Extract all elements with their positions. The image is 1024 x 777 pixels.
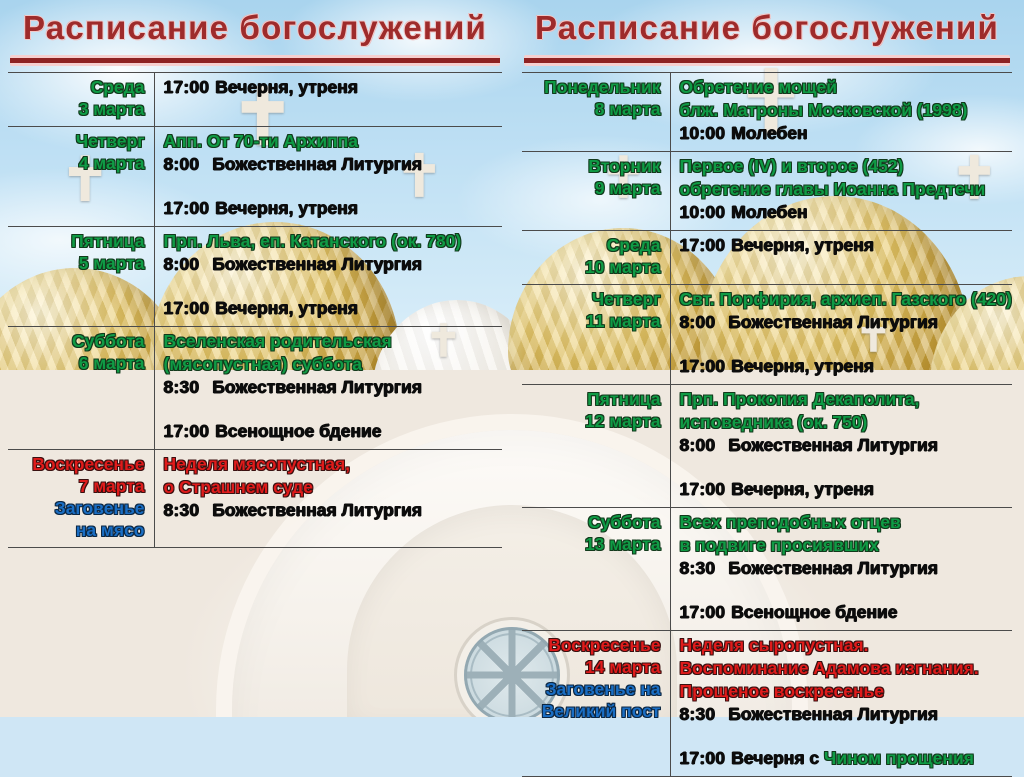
event-text: Прощеное воскресенье (680, 681, 885, 701)
events-cell: Прп. Льва, еп. Катанского (ок. 780)8:00Б… (154, 227, 502, 327)
schedule-table-left: Среда3 марта17:00Вечерня, утреняЧетверг4… (8, 72, 502, 548)
event-text: обретение главы Иоанна Предтечи (680, 179, 986, 199)
event-time: 17:00 (680, 235, 726, 255)
events-cell: Обретение мощейблж. Матроны Московской (… (670, 73, 1012, 152)
day-label: 11 марта (522, 310, 661, 332)
event-line: 17:00Вечерня, утреня (164, 76, 503, 99)
day-label: Суббота (8, 330, 145, 352)
day-cell: Пятница12 марта (522, 385, 670, 508)
day-label: 8 марта (522, 98, 661, 120)
schedule-poster: Расписание богослужений Среда3 марта17:0… (0, 0, 1024, 717)
table-row: Пятница12 мартаПрп. Прокопия Декаполита,… (522, 385, 1012, 508)
event-line: блж. Матроны Московской (1998) (680, 99, 1013, 122)
event-line: 10:00Молебен (680, 122, 1013, 145)
events-cell: 17:00Вечерня, утреня (154, 73, 502, 127)
event-time: 17:00 (164, 421, 210, 441)
event-time: 8:30 (164, 377, 200, 397)
day-label: на мясо (8, 519, 145, 541)
event-line: Неделя сыропустная. (680, 634, 1013, 657)
event-line: 10:00Молебен (680, 201, 1013, 224)
day-label: 5 марта (8, 252, 145, 274)
event-line: обретение главы Иоанна Предтечи (680, 178, 1013, 201)
event-text: Вечерня, утреня (215, 198, 358, 218)
event-line: 17:00Вечерня, утреня (680, 234, 1013, 257)
event-line: 8:30Божественная Литургия (680, 703, 1013, 726)
event-line: о Страшнем суде (164, 476, 503, 499)
event-text: Божественная Литургия (212, 377, 422, 397)
event-text: Молебен (731, 202, 807, 222)
schedule-body-right: Понедельник8 мартаОбретение мощейблж. Ма… (522, 73, 1012, 777)
event-line: 17:00Вечерня, утреня (680, 355, 1013, 378)
event-time: 8:00 (680, 435, 716, 455)
event-text: Божественная Литургия (212, 254, 422, 274)
event-time: 8:30 (680, 704, 716, 724)
schedule-table-right: Понедельник8 мартаОбретение мощейблж. Ма… (522, 72, 1012, 777)
event-time: 8:30 (680, 558, 716, 578)
event-line: (мясопустная) суббота (164, 353, 503, 376)
event-text: Первое (IV) и второе (452) (680, 156, 904, 176)
events-cell: Всех преподобных отцевв подвиге просиявш… (670, 508, 1012, 631)
event-text: Божественная Литургия (728, 558, 938, 578)
day-label: 14 марта (522, 656, 661, 678)
table-row: Четверг4 мартаАпп. От 70-ти Архиппа8:00Б… (8, 127, 502, 227)
event-line: Воспоминание Адамова изгнания. (680, 657, 1013, 680)
event-line: Вселенская родительская (164, 330, 503, 353)
day-label: Суббота (522, 511, 661, 533)
event-line: Обретение мощей (680, 76, 1013, 99)
event-text: Вечерня, утреня (731, 356, 874, 376)
day-label: Пятница (522, 388, 661, 410)
day-label: Великий пост (522, 700, 661, 722)
event-text: Божественная Литургия (728, 312, 938, 332)
table-row: Воскресенье7 мартаЗаговеньена мясоНеделя… (8, 450, 502, 548)
day-cell: Понедельник8 марта (522, 73, 670, 152)
event-text: Молебен (731, 123, 807, 143)
day-label: 6 марта (8, 352, 145, 374)
day-label: Четверг (8, 130, 145, 152)
table-row: Суббота13 мартаВсех преподобных отцевв п… (522, 508, 1012, 631)
day-cell: Вторник9 марта (522, 152, 670, 231)
event-time: 17:00 (164, 298, 210, 318)
event-time: 17:00 (680, 748, 726, 768)
day-label: Заговенье (8, 497, 145, 519)
day-label: Заговенье на (522, 678, 661, 700)
table-row: Среда10 марта17:00Вечерня, утреня (522, 231, 1012, 285)
day-label: Четверг (522, 288, 661, 310)
event-time: 8:00 (680, 312, 716, 332)
event-time: 17:00 (680, 356, 726, 376)
event-line: 17:00Вечерня с Чином прощения (680, 747, 1013, 770)
event-text: Свт. Порфирия, архиеп. Газского (420) (680, 289, 1012, 309)
event-line: Первое (IV) и второе (452) (680, 155, 1013, 178)
table-row: Четверг11 мартаСвт. Порфирия, архиеп. Га… (522, 285, 1012, 385)
day-label: Воскресенье (8, 453, 145, 475)
schedule-panel-right: Расписание богослужений Понедельник8 мар… (512, 0, 1024, 717)
day-label: Понедельник (522, 76, 661, 98)
events-cell: Апп. От 70-ти Архиппа8:00Божественная Ли… (154, 127, 502, 227)
event-text: Божественная Литургия (212, 500, 422, 520)
event-text: Обретение мощей (680, 77, 838, 97)
day-label: 12 марта (522, 410, 661, 432)
day-cell: Четверг4 марта (8, 127, 154, 227)
event-line: 17:00Всенощное бдение (164, 420, 503, 443)
table-row: Понедельник8 мартаОбретение мощейблж. Ма… (522, 73, 1012, 152)
event-text: Вечерня с (731, 748, 824, 768)
event-text: Прп. Льва, еп. Катанского (ок. 780) (164, 231, 462, 251)
day-cell: Суббота6 марта (8, 327, 154, 450)
day-cell: Среда3 марта (8, 73, 154, 127)
event-line: 17:00Вечерня, утреня (680, 478, 1013, 501)
day-label: 10 марта (522, 256, 661, 278)
day-cell: Воскресенье14 мартаЗаговенье наВеликий п… (522, 631, 670, 777)
event-line: Всех преподобных отцев (680, 511, 1013, 534)
day-label: 9 марта (522, 177, 661, 199)
event-text: блж. Матроны Московской (1998) (680, 100, 968, 120)
event-line: Апп. От 70-ти Архиппа (164, 130, 503, 153)
events-cell: Прп. Прокопия Декаполита,исповедника (ок… (670, 385, 1012, 508)
day-cell: Пятница5 марта (8, 227, 154, 327)
day-label: Среда (8, 76, 145, 98)
event-time: 8:00 (164, 154, 200, 174)
event-line: Прп. Прокопия Декаполита, (680, 388, 1013, 411)
day-cell: Воскресенье7 мартаЗаговеньена мясо (8, 450, 154, 548)
event-line: 8:00Божественная Литургия (680, 311, 1013, 334)
event-line: 8:30Божественная Литургия (164, 499, 503, 522)
day-label: 3 марта (8, 98, 145, 120)
table-row: Среда3 марта17:00Вечерня, утреня (8, 73, 502, 127)
day-label: 7 марта (8, 475, 145, 497)
event-text: Всех преподобных отцев (680, 512, 901, 532)
event-text: Божественная Литургия (728, 435, 938, 455)
event-line: 8:00Божественная Литургия (680, 434, 1013, 457)
event-text-highlight: Чином прощения (824, 748, 974, 768)
event-text: Вечерня, утреня (215, 298, 358, 318)
day-cell: Четверг11 марта (522, 285, 670, 385)
event-line: исповедника (ок. 750) (680, 411, 1013, 434)
page-title-left: Расписание богослужений (8, 6, 502, 50)
event-text: Неделя сыропустная. (680, 635, 869, 655)
events-cell: Первое (IV) и второе (452)обретение глав… (670, 152, 1012, 231)
day-label: Воскресенье (522, 634, 661, 656)
event-text: Божественная Литургия (212, 154, 422, 174)
events-cell: Неделя мясопустная,о Страшнем суде8:30Бо… (154, 450, 502, 548)
event-time: 17:00 (680, 602, 726, 622)
events-cell: Свт. Порфирия, архиеп. Газского (420)8:0… (670, 285, 1012, 385)
event-line: 17:00Всенощное бдение (680, 601, 1013, 624)
event-line: Свт. Порфирия, архиеп. Газского (420) (680, 288, 1013, 311)
event-line: 17:00Вечерня, утреня (164, 197, 503, 220)
day-label: 4 марта (8, 152, 145, 174)
event-time: 17:00 (164, 198, 210, 218)
event-text: Всенощное бдение (215, 421, 381, 441)
event-line: Неделя мясопустная, (164, 453, 503, 476)
event-text: Апп. От 70-ти Архиппа (164, 131, 359, 151)
event-line: Прощеное воскресенье (680, 680, 1013, 703)
event-text: Неделя мясопустная, (164, 454, 351, 474)
event-text: Вселенская родительская (164, 331, 392, 351)
event-text: Вечерня, утреня (731, 235, 874, 255)
table-row: Вторник9 мартаПервое (IV) и второе (452)… (522, 152, 1012, 231)
table-row: Суббота6 мартаВселенская родительская(мя… (8, 327, 502, 450)
day-label: Пятница (8, 230, 145, 252)
event-text: о Страшнем суде (164, 477, 314, 497)
events-cell: Неделя сыропустная.Воспоминание Адамова … (670, 631, 1012, 777)
events-cell: 17:00Вечерня, утреня (670, 231, 1012, 285)
event-line: 8:30Божественная Литургия (680, 557, 1013, 580)
day-label: 13 марта (522, 533, 661, 555)
page-title-right: Расписание богослужений (522, 6, 1012, 50)
schedule-panel-left: Расписание богослужений Среда3 марта17:0… (0, 0, 512, 717)
event-time: 17:00 (680, 479, 726, 499)
title-divider-right (524, 55, 1010, 66)
schedule-body-left: Среда3 марта17:00Вечерня, утреняЧетверг4… (8, 73, 502, 548)
event-text: Прп. Прокопия Декаполита, (680, 389, 920, 409)
day-label: Вторник (522, 155, 661, 177)
event-text: Божественная Литургия (728, 704, 938, 724)
event-time: 17:00 (164, 77, 210, 97)
event-text: исповедника (ок. 750) (680, 412, 868, 432)
event-line: Прп. Льва, еп. Катанского (ок. 780) (164, 230, 503, 253)
day-cell: Среда10 марта (522, 231, 670, 285)
event-time: 8:30 (164, 500, 200, 520)
event-text: Вечерня, утреня (215, 77, 358, 97)
event-line: 8:00Божественная Литургия (164, 253, 503, 276)
event-text: Воспоминание Адамова изгнания. (680, 658, 979, 678)
table-row: Воскресенье14 мартаЗаговенье наВеликий п… (522, 631, 1012, 777)
event-text: в подвиге просиявших (680, 535, 879, 555)
event-text: (мясопустная) суббота (164, 354, 362, 374)
event-time: 10:00 (680, 202, 726, 222)
day-cell: Суббота13 марта (522, 508, 670, 631)
title-divider-left (10, 55, 500, 66)
event-time: 10:00 (680, 123, 726, 143)
event-text: Вечерня, утреня (731, 479, 874, 499)
event-line: 8:00Божественная Литургия (164, 153, 503, 176)
table-row: Пятница5 мартаПрп. Льва, еп. Катанского … (8, 227, 502, 327)
event-line: в подвиге просиявших (680, 534, 1013, 557)
event-time: 8:00 (164, 254, 200, 274)
day-label: Среда (522, 234, 661, 256)
event-line: 17:00Вечерня, утреня (164, 297, 503, 320)
event-line: 8:30Божественная Литургия (164, 376, 503, 399)
events-cell: Вселенская родительская(мясопустная) суб… (154, 327, 502, 450)
event-text: Всенощное бдение (731, 602, 897, 622)
